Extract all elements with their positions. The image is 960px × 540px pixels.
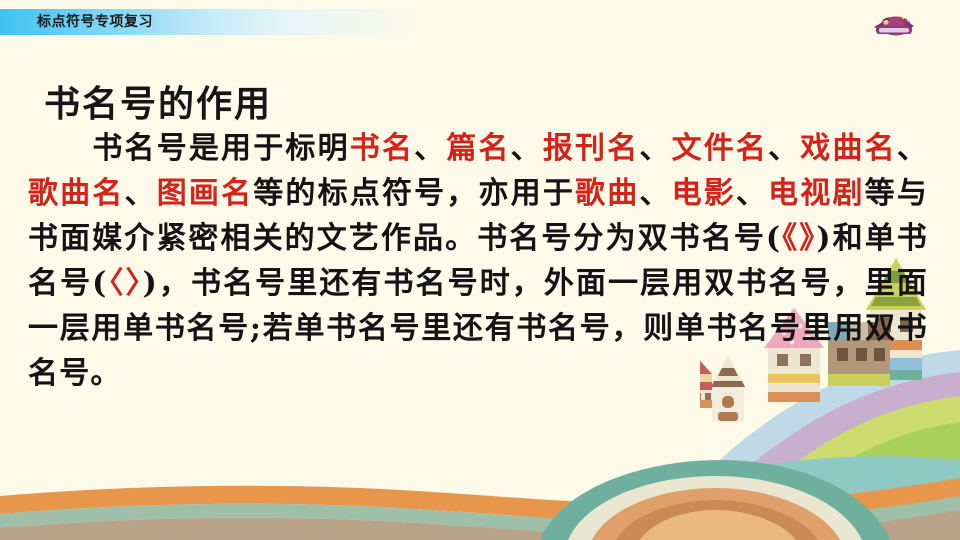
emphasis-term: 电视剧 [768,176,865,211]
emphasis-term: 电影 [672,176,736,211]
body-paragraph: 书名号是用于标明书名、篇名、报刊名、文件名、戏曲名、歌曲名、图画名等的标点符号，… [28,126,928,396]
body-text-run: 、 [897,131,928,166]
emphasis-term: 歌曲 [575,176,639,211]
emphasis-term: 〈〉 [108,266,143,301]
body-text-run: 、 [639,131,671,166]
emphasis-term: 戏曲名 [800,131,897,166]
emphasis-term: 篇名 [446,131,510,166]
body-text-run: 、 [125,176,157,211]
emphasis-term: 《》 [781,221,816,256]
emphasis-term: 图画名 [157,176,254,211]
body-text-run: 、 [736,176,768,211]
body-text-run: 、 [639,176,671,211]
body-text-run: 、 [511,131,543,166]
emphasis-term: 书名 [350,131,414,166]
slide-canvas: 标点符号专项复习 书名号的作用 书名号是用于标明书名、篇名、报刊名、文件名、戏曲… [0,0,960,540]
body-text-run: 、 [414,131,446,166]
emphasis-term: 文件名 [672,131,769,166]
emphasis-term: 歌曲名 [28,176,125,211]
body-text-run: 书名号是用于标明 [28,131,350,166]
body-text-run: 等的标点符号，亦用于 [253,176,575,211]
header-label: 标点符号专项复习 [37,11,153,33]
ribbon-badge-logo-icon [870,13,918,41]
body-text-run: 、 [768,131,800,166]
page-title: 书名号的作用 [44,82,272,128]
body-text-run: )，书名号里还有书名号时，外面一层用双书名号，里面一层用单书名号;若单书名号里还… [28,266,928,391]
emphasis-term: 报刊名 [543,131,640,166]
